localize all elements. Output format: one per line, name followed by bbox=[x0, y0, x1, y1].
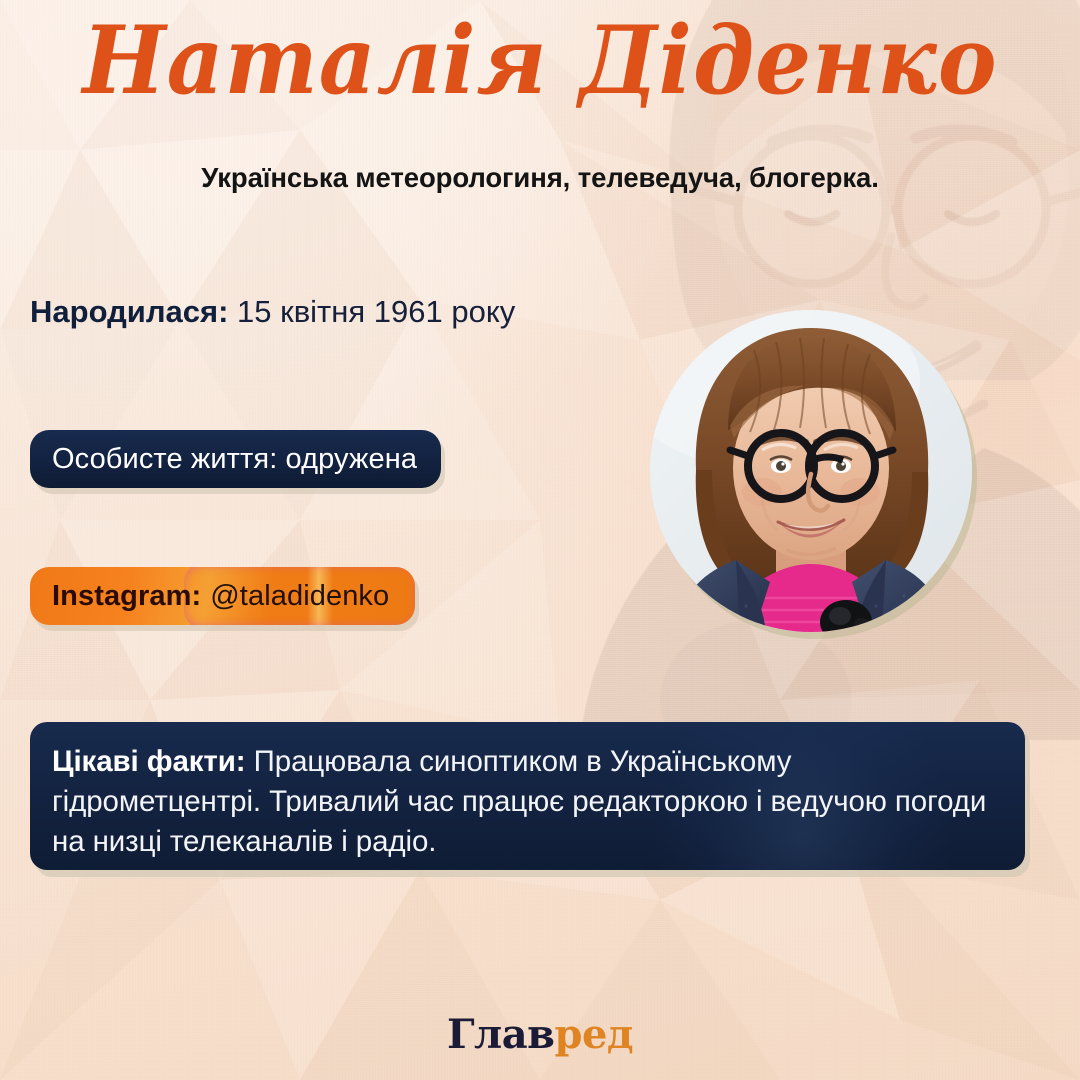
born-label: Народилася: bbox=[30, 294, 228, 329]
instagram-handle[interactable]: @taladidenko bbox=[210, 580, 389, 613]
born-line: Народилася: 15 квітня 1961 року bbox=[30, 294, 515, 330]
logo-part-one: Глав bbox=[447, 1011, 555, 1058]
interesting-facts-text: Цікаві факти: Працювала синоптиком в Укр… bbox=[52, 742, 999, 862]
logo-part-two: ред bbox=[554, 1011, 633, 1058]
page-title: Наталія Діденко bbox=[0, 13, 1080, 106]
interesting-facts-label: Цікаві факти: bbox=[52, 745, 246, 778]
personal-life-badge: Особисте життя: одружена bbox=[30, 430, 441, 488]
page-subtitle: Українська метеорологиня, телеведуча, бл… bbox=[0, 162, 1080, 194]
instagram-badge[interactable]: Instagram: @taladidenko bbox=[30, 567, 415, 625]
instagram-label: Instagram: bbox=[52, 580, 201, 613]
portrait-illustration bbox=[650, 310, 972, 632]
glavred-logo[interactable]: Главред bbox=[0, 1011, 1080, 1058]
personal-life-text: Особисте життя: одружена bbox=[52, 443, 417, 476]
avatar bbox=[650, 310, 972, 632]
born-value: 15 квітня 1961 року bbox=[237, 294, 515, 329]
interesting-facts-box: Цікаві факти: Працювала синоптиком в Укр… bbox=[30, 722, 1025, 870]
